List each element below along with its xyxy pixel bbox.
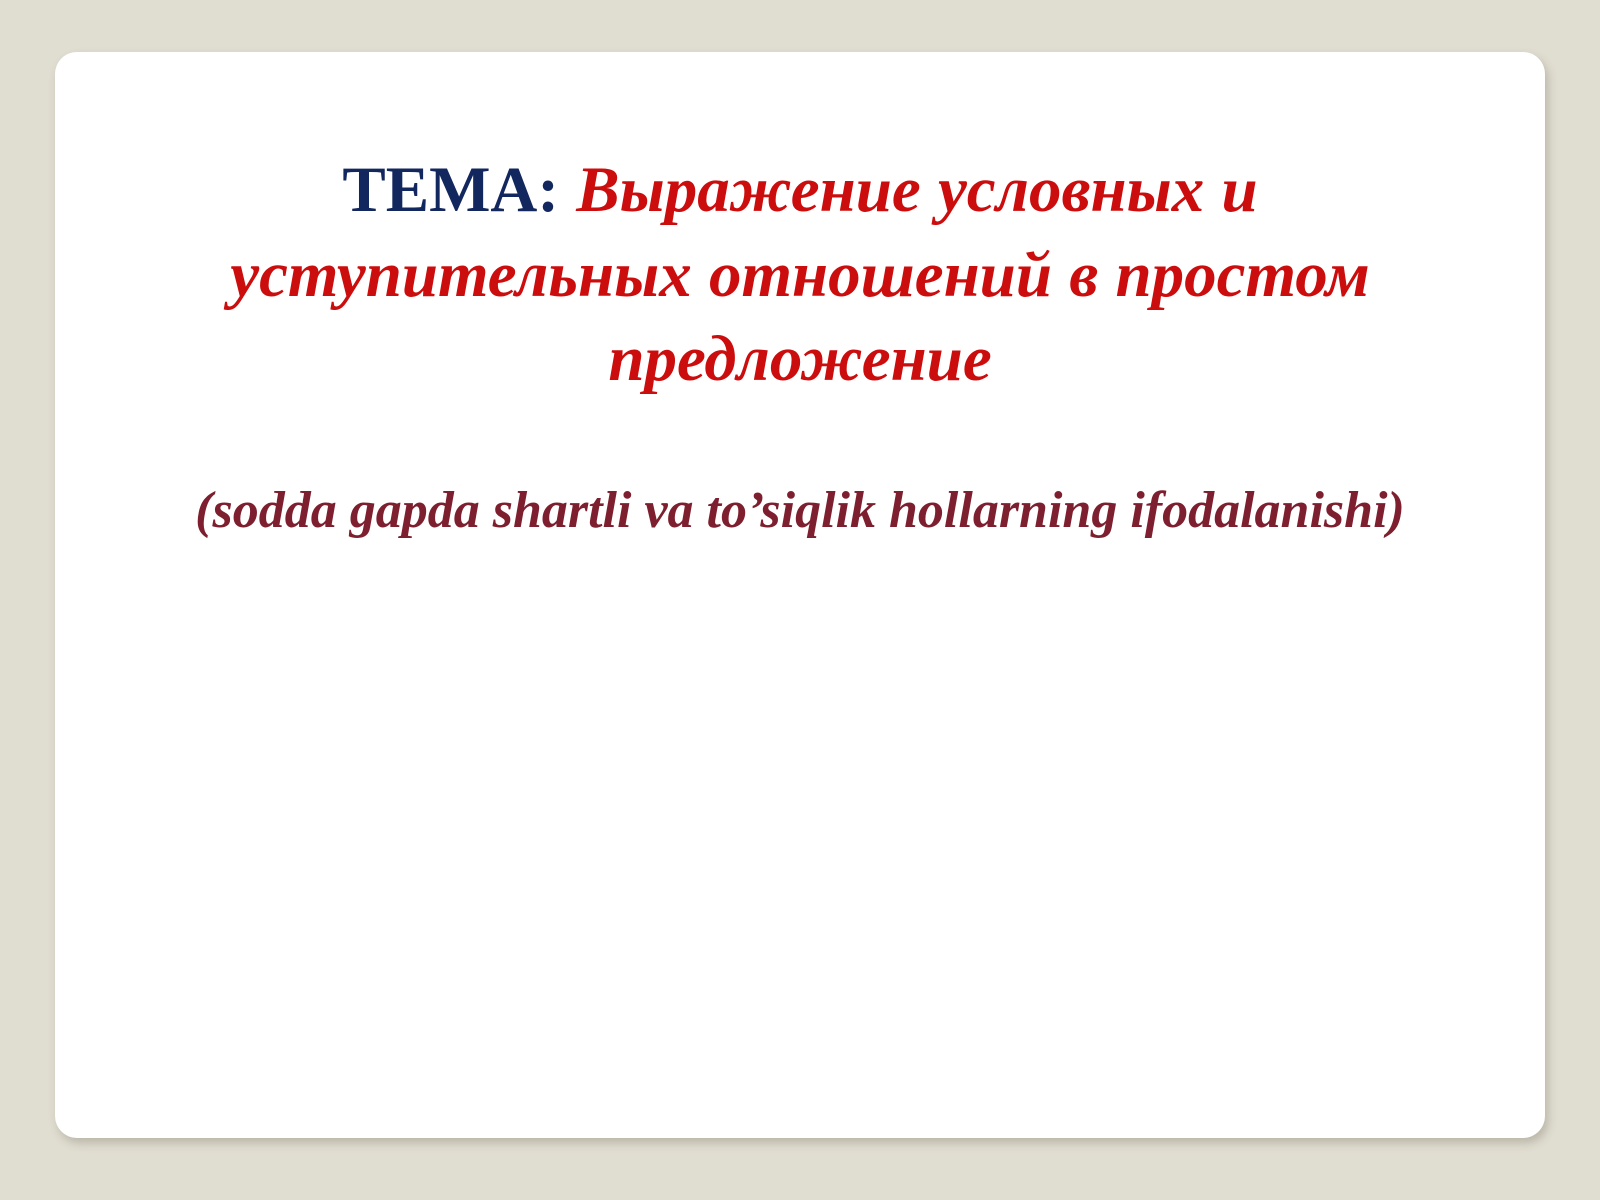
- slide-root: ТЕМА: Выражение условных и уступительных…: [0, 0, 1600, 1200]
- slide-content: ТЕМА: Выражение условных и уступительных…: [167, 148, 1433, 1015]
- title-label: ТЕМА:: [342, 154, 576, 226]
- slide-subtitle: (sodda gapda shartli va to’siqlik hollar…: [167, 402, 1433, 546]
- slide-body-area: [167, 545, 1433, 1015]
- slide-card: ТЕМА: Выражение условных и уступительных…: [55, 52, 1545, 1138]
- slide-title: ТЕМА: Выражение условных и уступительных…: [167, 148, 1433, 402]
